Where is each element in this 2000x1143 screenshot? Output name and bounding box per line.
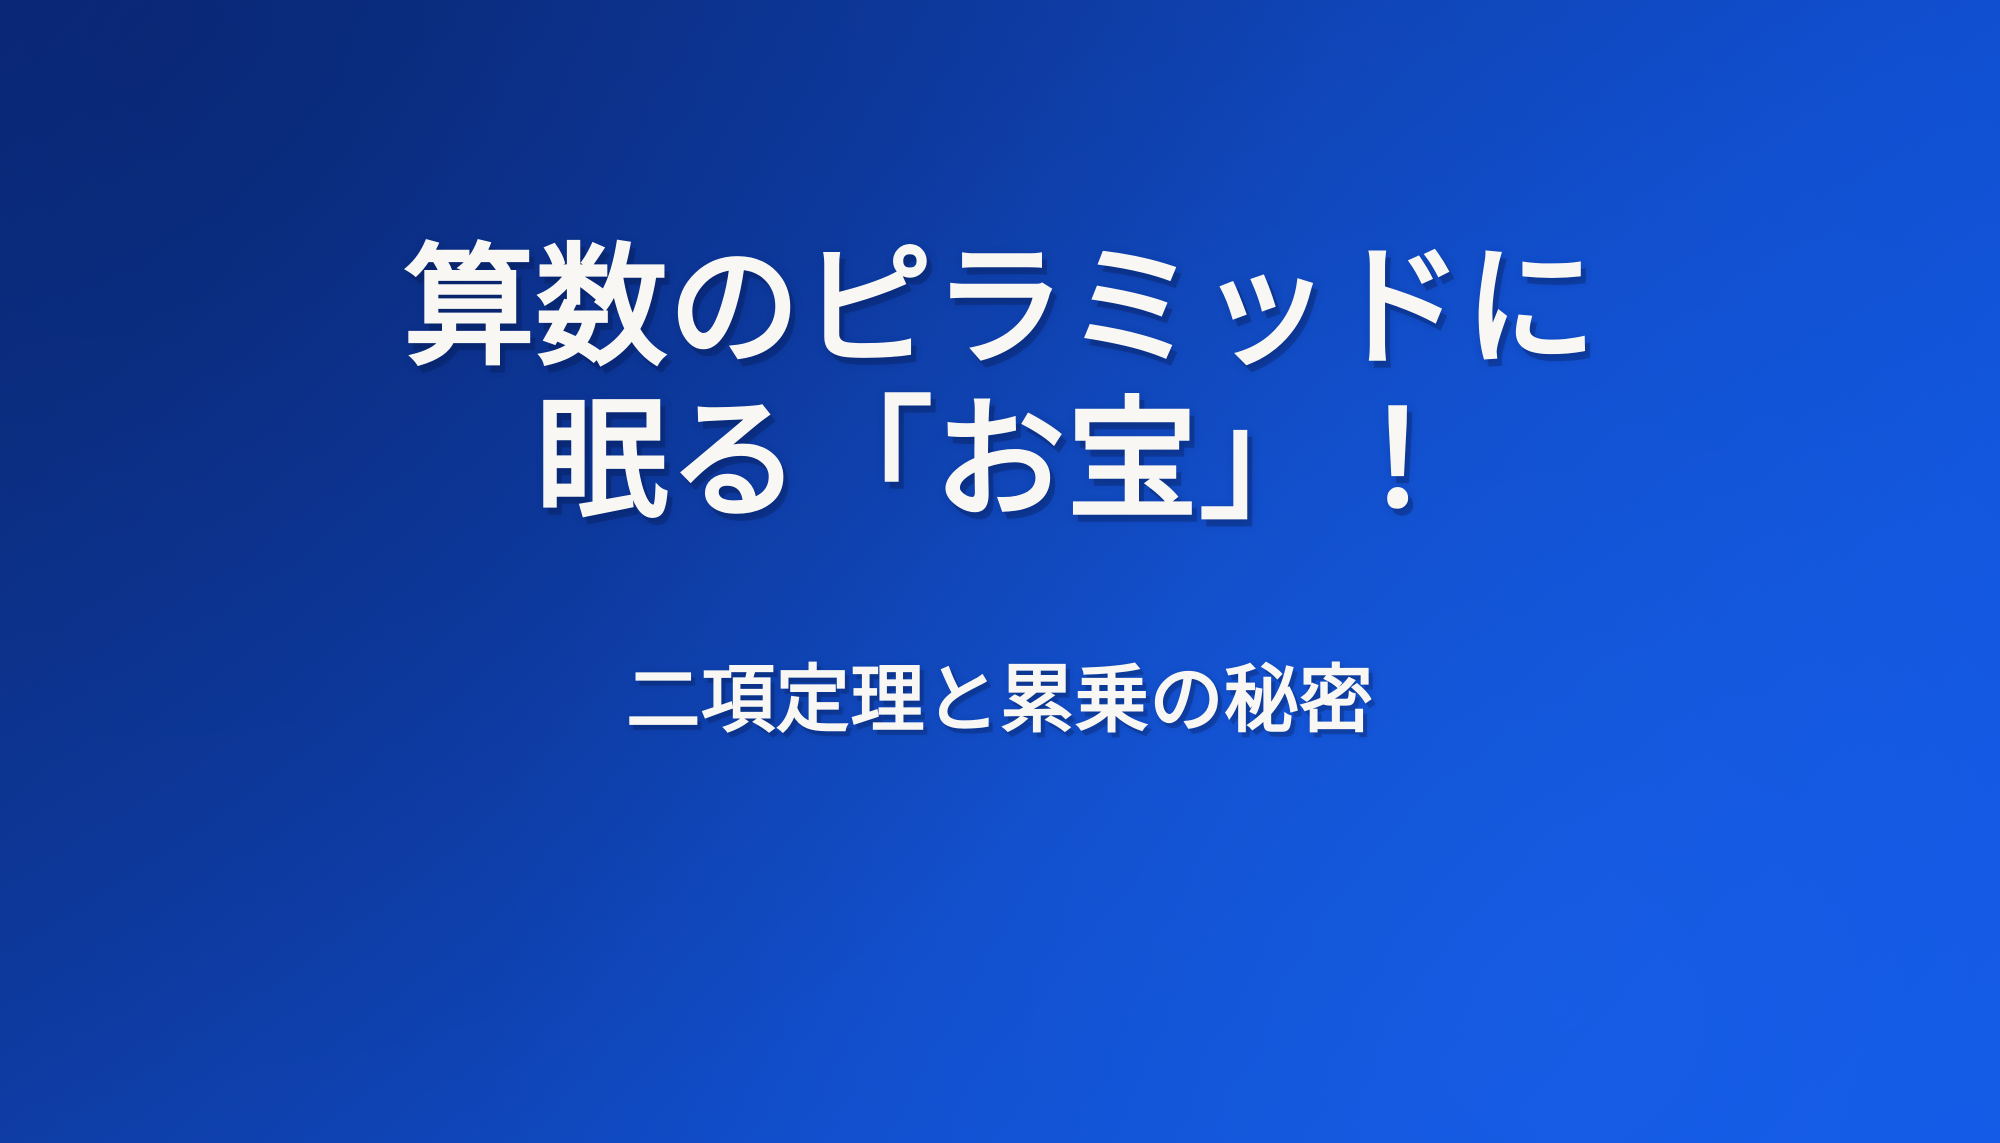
title-slide: 算数のピラミッドに 眠る「お宝」！ 二項定理と累乗の秘密 (0, 0, 2000, 1143)
subtitle-line-1: 二項定理と累乗の秘密 (626, 656, 1373, 745)
slide-title: 算数のピラミッドに 眠る「お宝」！ (0, 232, 2000, 538)
title-line-1: 算数のピラミッドに (403, 232, 1597, 385)
slide-text-stack: 算数のピラミッドに 眠る「お宝」！ 二項定理と累乗の秘密 (0, 0, 2000, 745)
slide-subtitle: 二項定理と累乗の秘密 (0, 656, 2000, 745)
title-line-2: 眠る「お宝」！ (536, 385, 1465, 538)
